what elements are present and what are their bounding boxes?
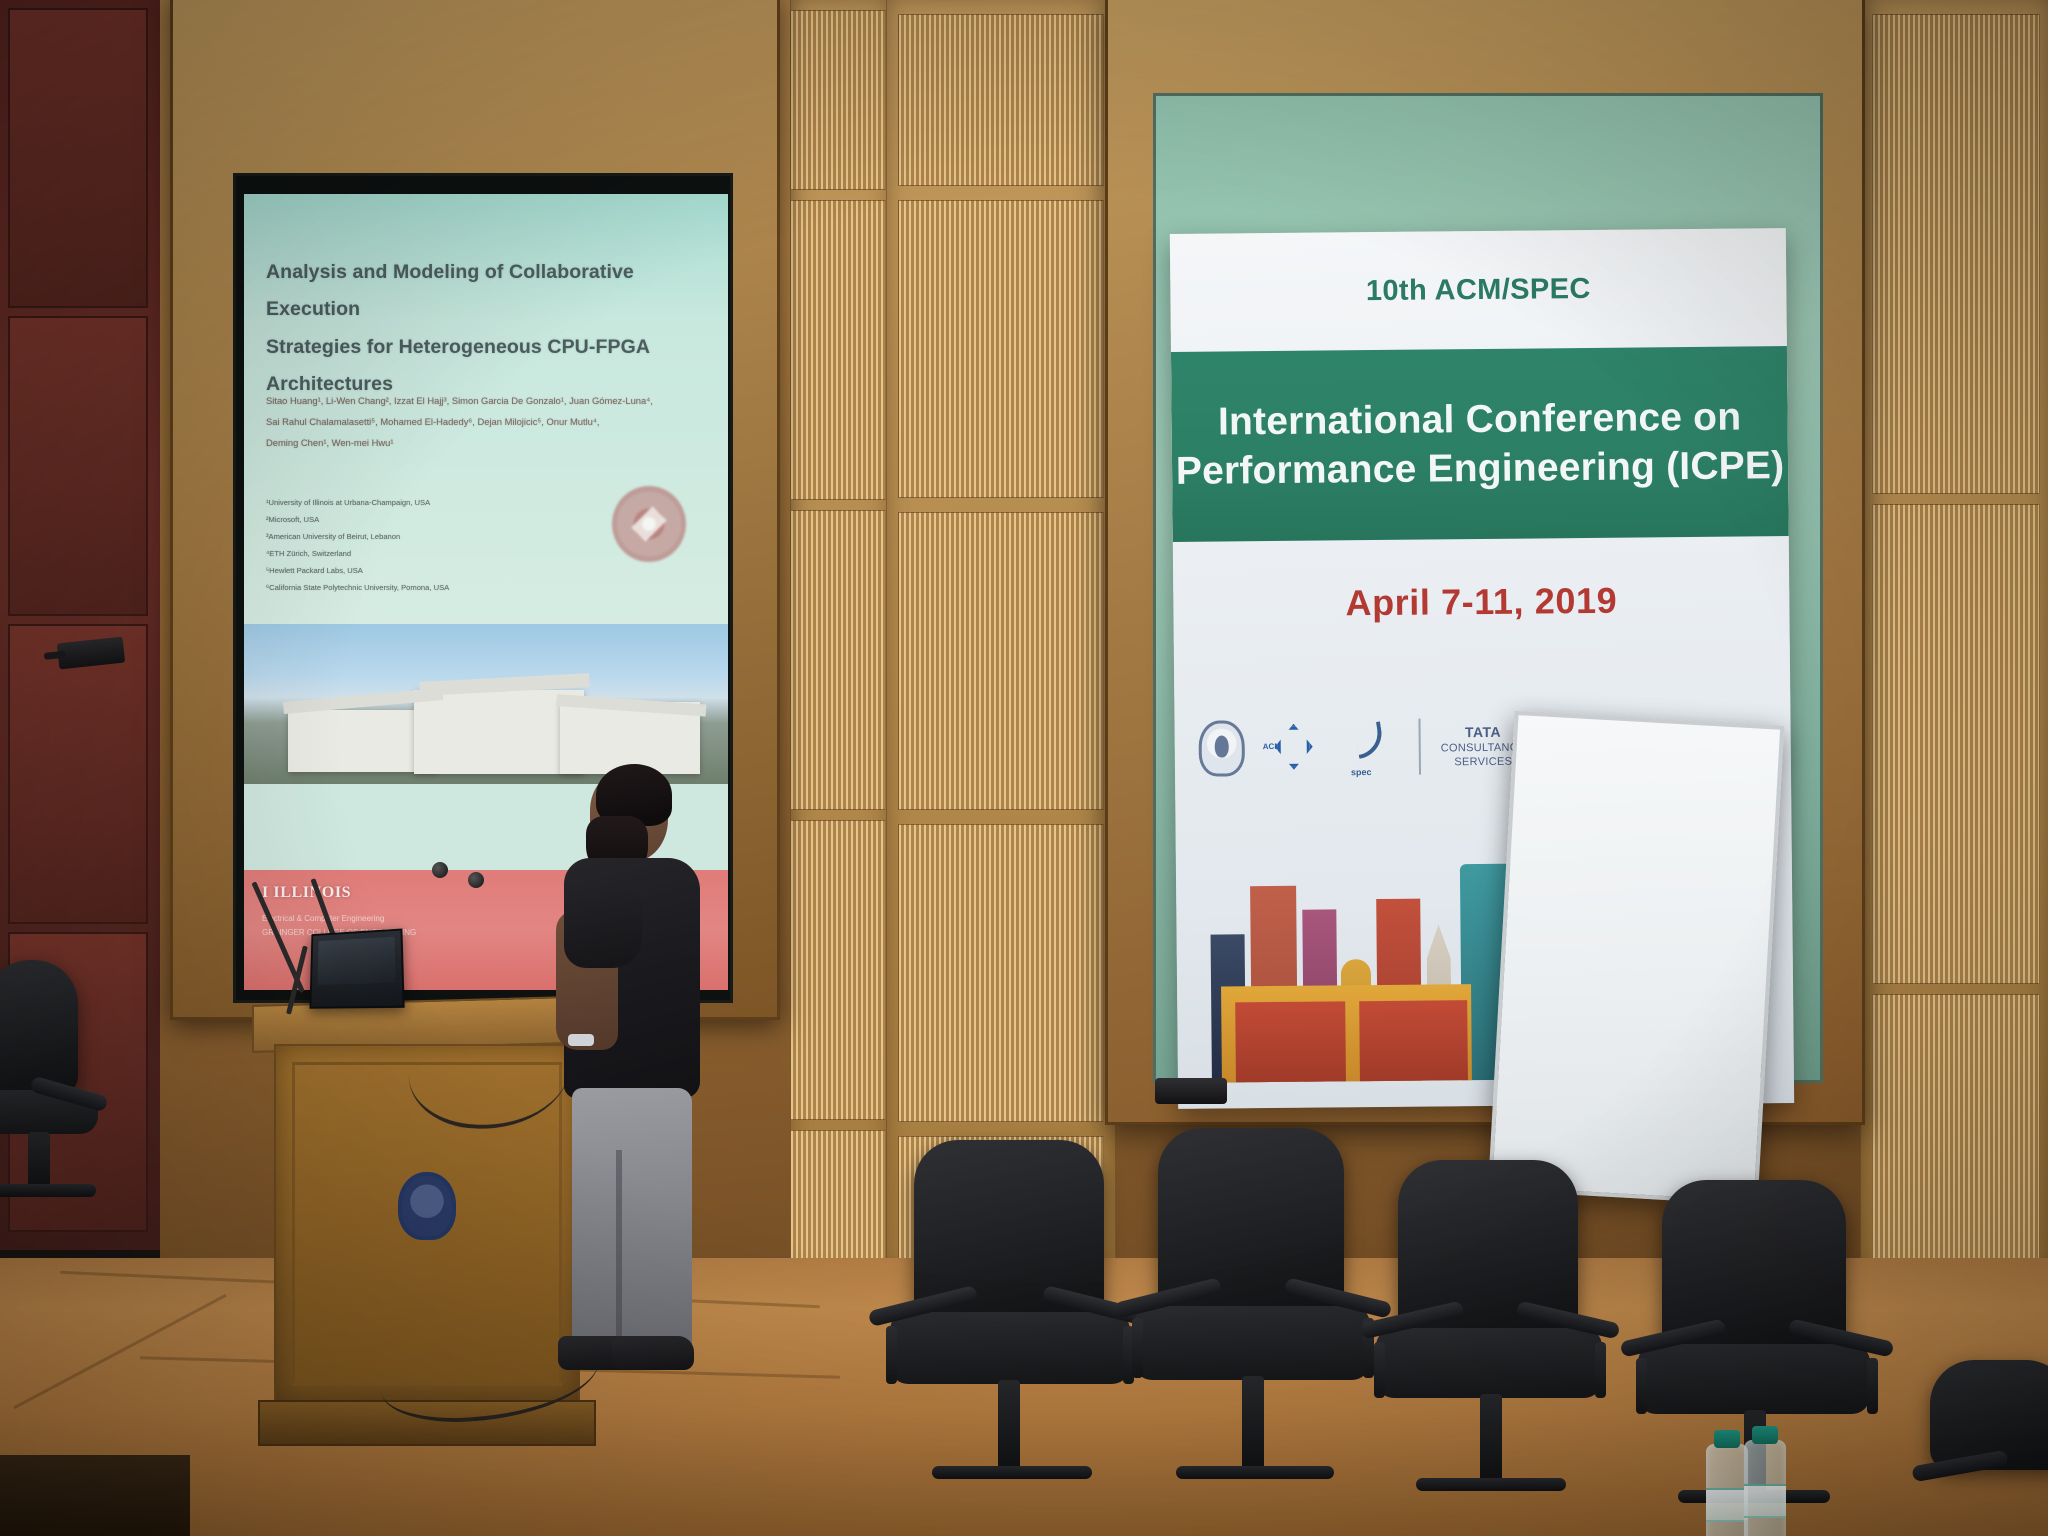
- presenter-shoe: [612, 1336, 694, 1370]
- presenter-sleeve: [564, 890, 642, 968]
- microphone-head-icon: [432, 862, 448, 878]
- presenter-wristwatch: [568, 1034, 594, 1046]
- acoustic-panel-ribbed: [1872, 994, 2040, 1269]
- acoustic-panel-ribbed: [898, 14, 1104, 186]
- slide-title-line-2: Strategies for Heterogeneous CPU-FPGA: [266, 329, 718, 366]
- slide-title-line-1: Analysis and Modeling of Collaborative E…: [266, 254, 718, 329]
- slide-building-photo: [244, 624, 728, 784]
- banner-top-strip: 10th ACM/SPEC: [1170, 228, 1787, 352]
- sponsor-divider: [1418, 719, 1421, 775]
- acoustic-panel-ribbed: [790, 10, 886, 190]
- acoustic-panel-ribbed: [790, 510, 886, 810]
- slide-author-line-3: Deming Chen¹, Wen-mei Hwu¹: [266, 432, 720, 453]
- slide-author-list: Sitao Huang¹, Li-Wen Chang², Izzat El Ha…: [266, 390, 720, 453]
- stage-front-shadow: [0, 1455, 190, 1536]
- acoustic-panel-ribbed: [790, 200, 886, 500]
- bottle-label: [1744, 1484, 1786, 1518]
- acoustic-panel-ribbed: [790, 1130, 886, 1270]
- acoustic-panel-ribbed: [790, 820, 886, 1120]
- bottle-cap: [1714, 1430, 1740, 1448]
- iit-seal-icon: [1198, 720, 1245, 776]
- presenter-person: [550, 770, 730, 1400]
- acm-logo-icon: ACM: [1265, 722, 1323, 775]
- slide-author-line-2: Sai Rahul Chalamalasetti⁵, Mohamed El-Ha…: [266, 411, 720, 432]
- water-bottle[interactable]: [1706, 1444, 1748, 1536]
- whiteboard-surface[interactable]: [1488, 711, 1784, 1205]
- water-bottle[interactable]: [1744, 1440, 1786, 1536]
- office-chair[interactable]: [1920, 1360, 2048, 1536]
- slide-title: Analysis and Modeling of Collaborative E…: [266, 254, 718, 404]
- slide-author-line-1: Sitao Huang¹, Li-Wen Chang², Izzat El Ha…: [266, 390, 720, 411]
- office-chair[interactable]: [0, 960, 126, 1230]
- presenter-leg-gap: [616, 1150, 622, 1350]
- acoustic-panel-ribbed: [1872, 504, 2040, 984]
- office-chair[interactable]: [1128, 1128, 1378, 1536]
- illinois-logo: I ILLINOIS: [262, 884, 351, 902]
- acoustic-panel-ribbed: [898, 512, 1104, 810]
- laptop-screen: [318, 937, 396, 985]
- banner-edition-label: 10th ACM/SPEC: [1366, 272, 1591, 307]
- affiliation-line-6: ⁶California State Polytechnic University…: [266, 579, 720, 596]
- acoustic-panel-ribbed: [898, 200, 1104, 498]
- acoustic-panel-ribbed: [898, 824, 1104, 1122]
- spec-logo-icon: spec: [1342, 719, 1399, 776]
- office-chair[interactable]: [880, 1140, 1140, 1536]
- presenter-legs: [572, 1088, 692, 1350]
- bottle-label: [1706, 1488, 1748, 1522]
- illinois-subline-1: Electrical & Computer Engineering: [262, 912, 416, 926]
- presenter-laptop[interactable]: [309, 928, 404, 1008]
- office-chair[interactable]: [1370, 1160, 1610, 1536]
- bottle-cap: [1752, 1426, 1778, 1444]
- university-seal-icon: [612, 486, 686, 562]
- conference-stage-photo: Analysis and Modeling of Collaborative E…: [0, 0, 2048, 1536]
- microphone-head-icon: [468, 872, 484, 888]
- spec-logo-label: spec: [1351, 767, 1372, 777]
- banner-date: April 7-11, 2019: [1173, 578, 1789, 626]
- banner-title-line-2: Performance Engineering (ICPE): [1176, 443, 1785, 494]
- banner-title-block: International Conference on Performance …: [1171, 346, 1789, 542]
- acm-logo-label: ACM: [1263, 742, 1281, 751]
- marker-eraser[interactable]: [1155, 1078, 1227, 1104]
- institution-emblem-icon: [398, 1172, 456, 1240]
- acoustic-panel-ribbed: [1872, 14, 2040, 494]
- banner-title-line-1: International Conference on: [1218, 394, 1742, 444]
- affiliation-line-5: ⁵Hewlett Packard Labs, USA: [266, 562, 720, 579]
